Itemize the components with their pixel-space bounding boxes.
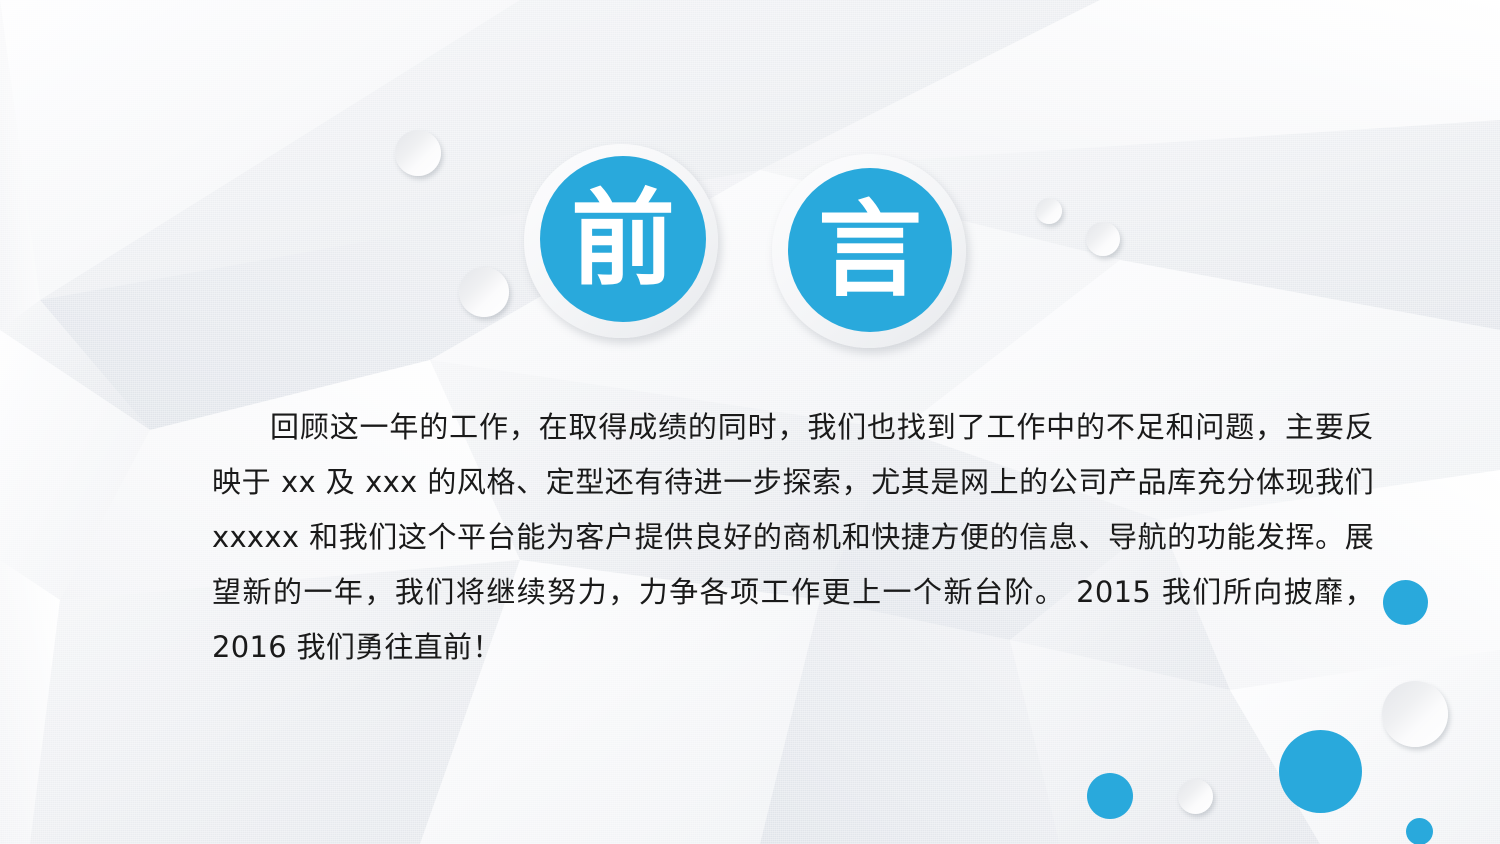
- deco-circle-white-4: [1086, 222, 1120, 256]
- deco-circle-white-5: [1382, 681, 1448, 747]
- badge-disc-icon: 前: [540, 156, 706, 322]
- deco-circle-white-3: [1036, 198, 1062, 224]
- deco-circle-white-2: [459, 267, 509, 317]
- body-paragraph: 回顾这一年的工作，在取得成绩的同时，我们也找到了工作中的不足和问题，主要反映于 …: [212, 400, 1374, 675]
- deco-circle-blue-1: [1383, 580, 1428, 625]
- deco-circle-blue-3: [1087, 773, 1133, 819]
- slide-root: 前 言 回顾这一年的工作，在取得成绩的同时，我们也找到了工作中的不足和问题，主要…: [0, 0, 1500, 844]
- deco-circle-blue-2: [1279, 730, 1362, 813]
- title-char-2: 言: [818, 198, 922, 302]
- deco-circle-white-1: [395, 130, 441, 176]
- badge-disc-icon: 言: [788, 168, 952, 332]
- deco-circle-blue-4: [1406, 818, 1433, 844]
- title-char-1: 前: [571, 187, 675, 291]
- slide-title: 前 言: [516, 140, 976, 335]
- deco-circle-white-6: [1178, 779, 1213, 814]
